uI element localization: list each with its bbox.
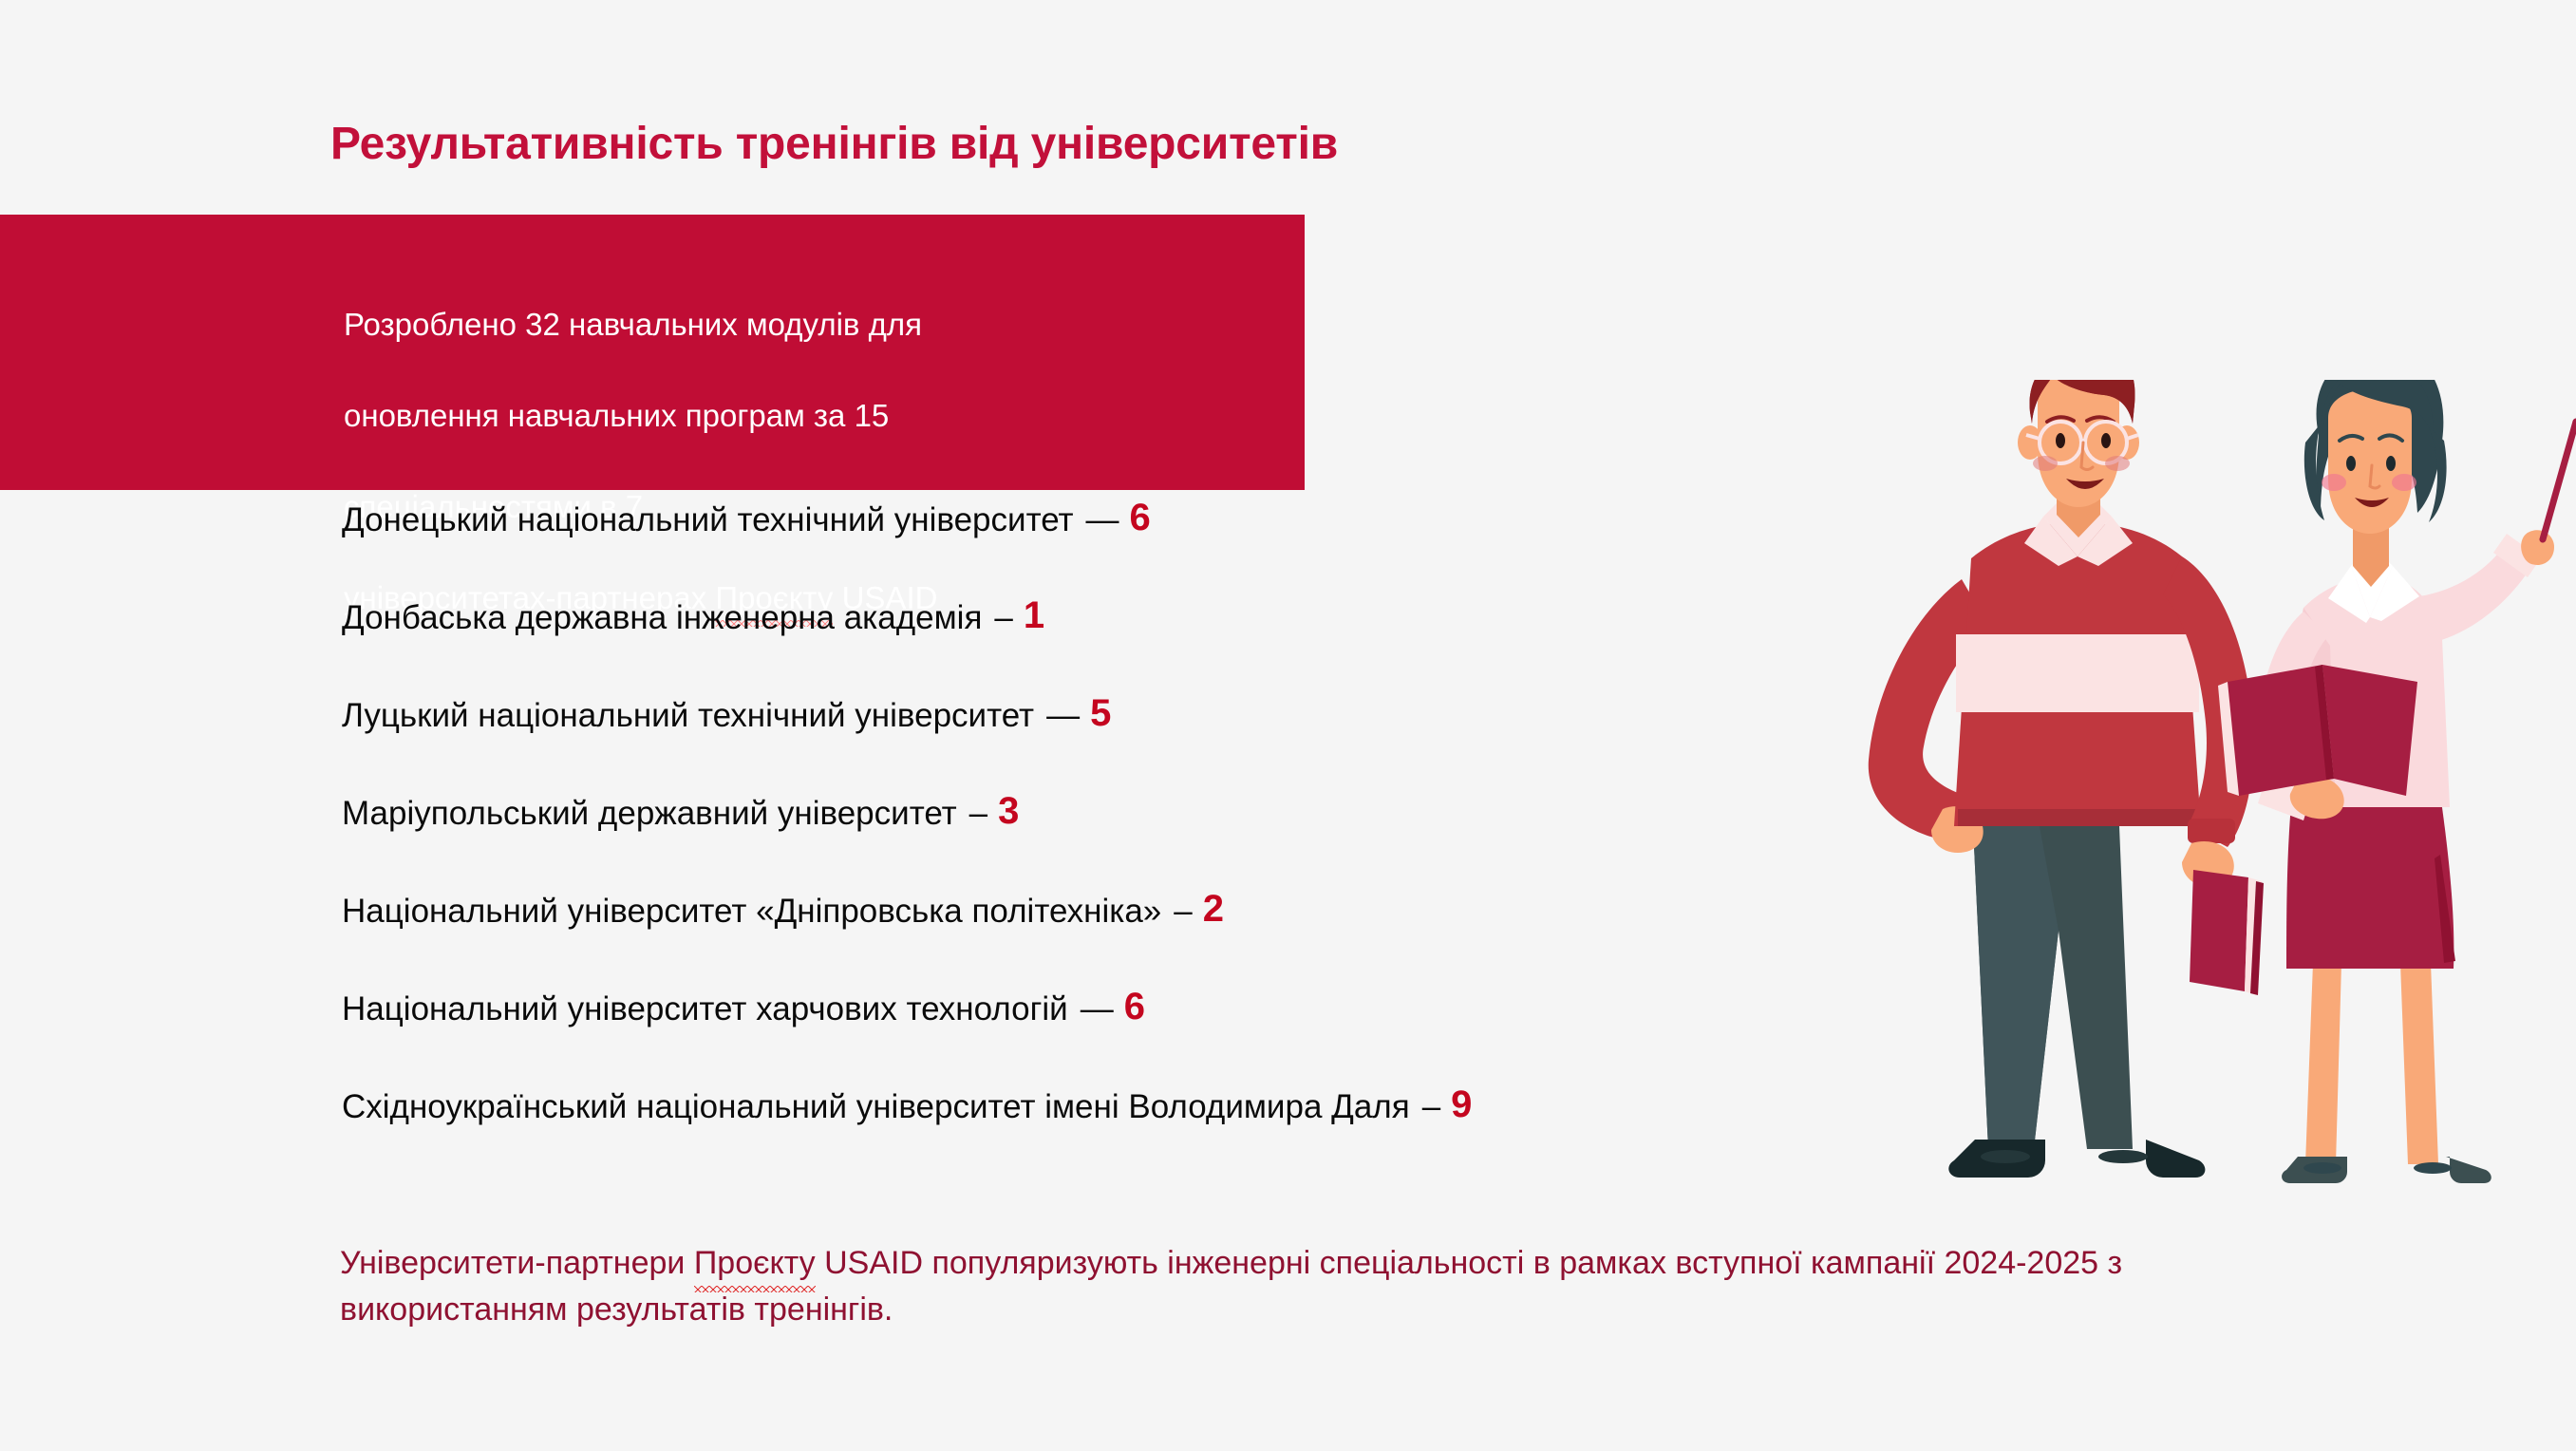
- list-item: Національний університет харчових технол…: [342, 989, 1766, 1087]
- list-item: Маріупольський державний університет – 3: [342, 794, 1766, 892]
- university-name: Луцький національний технічний університ…: [342, 696, 1034, 736]
- separator-dash: —: [1086, 500, 1119, 540]
- university-name: Донецький національний технічний універс…: [342, 500, 1074, 540]
- university-name: Донбаська державна інженерна академія: [342, 598, 982, 638]
- list-item: Східноукраїнський національний університ…: [342, 1087, 1766, 1185]
- university-name: Східноукраїнський національний університ…: [342, 1087, 1410, 1127]
- module-count: 6: [1130, 500, 1151, 535]
- module-count: 6: [1124, 989, 1145, 1024]
- university-list: Донецький національний технічний універс…: [342, 500, 1766, 1185]
- module-count: 5: [1090, 696, 1111, 730]
- module-count: 2: [1203, 892, 1224, 926]
- list-item: Донбаська державна інженерна академія – …: [342, 598, 1766, 696]
- callout-line-1: Розроблено 32 навчальних модулів для: [344, 307, 922, 342]
- module-count: 1: [1024, 598, 1044, 632]
- university-name: Маріупольський державний університет: [342, 794, 957, 834]
- list-item: Донецький національний технічний універс…: [342, 500, 1766, 598]
- separator-dash: –: [1174, 892, 1192, 932]
- separator-dash: —: [1081, 989, 1114, 1029]
- callout-line-2: оновлення навчальних програм за 15: [344, 398, 889, 433]
- list-item: Луцький національний технічний університ…: [342, 696, 1766, 794]
- separator-dash: –: [994, 598, 1012, 638]
- spellcheck-misspelled-word: Проєкту: [694, 1240, 816, 1287]
- footer-note: Університети-партнери Проєкту USAID попу…: [340, 1240, 2343, 1333]
- module-count: 9: [1451, 1087, 1472, 1121]
- university-name: Національний університет «Дніпровська по…: [342, 892, 1161, 932]
- page-title: Результативність тренінгів від університ…: [330, 118, 1338, 170]
- separator-dash: –: [969, 794, 987, 834]
- university-name: Національний університет харчових технол…: [342, 989, 1068, 1029]
- list-item: Національний університет «Дніпровська по…: [342, 892, 1766, 989]
- footer-prefix: Університети-партнери: [340, 1245, 694, 1281]
- module-count: 3: [998, 794, 1019, 828]
- male-teacher-figure: [1869, 380, 2264, 1178]
- separator-dash: –: [1422, 1087, 1440, 1127]
- separator-dash: —: [1046, 696, 1080, 736]
- female-teacher-figure: [2218, 380, 2576, 1183]
- two-teachers-illustration: [1785, 380, 2576, 1234]
